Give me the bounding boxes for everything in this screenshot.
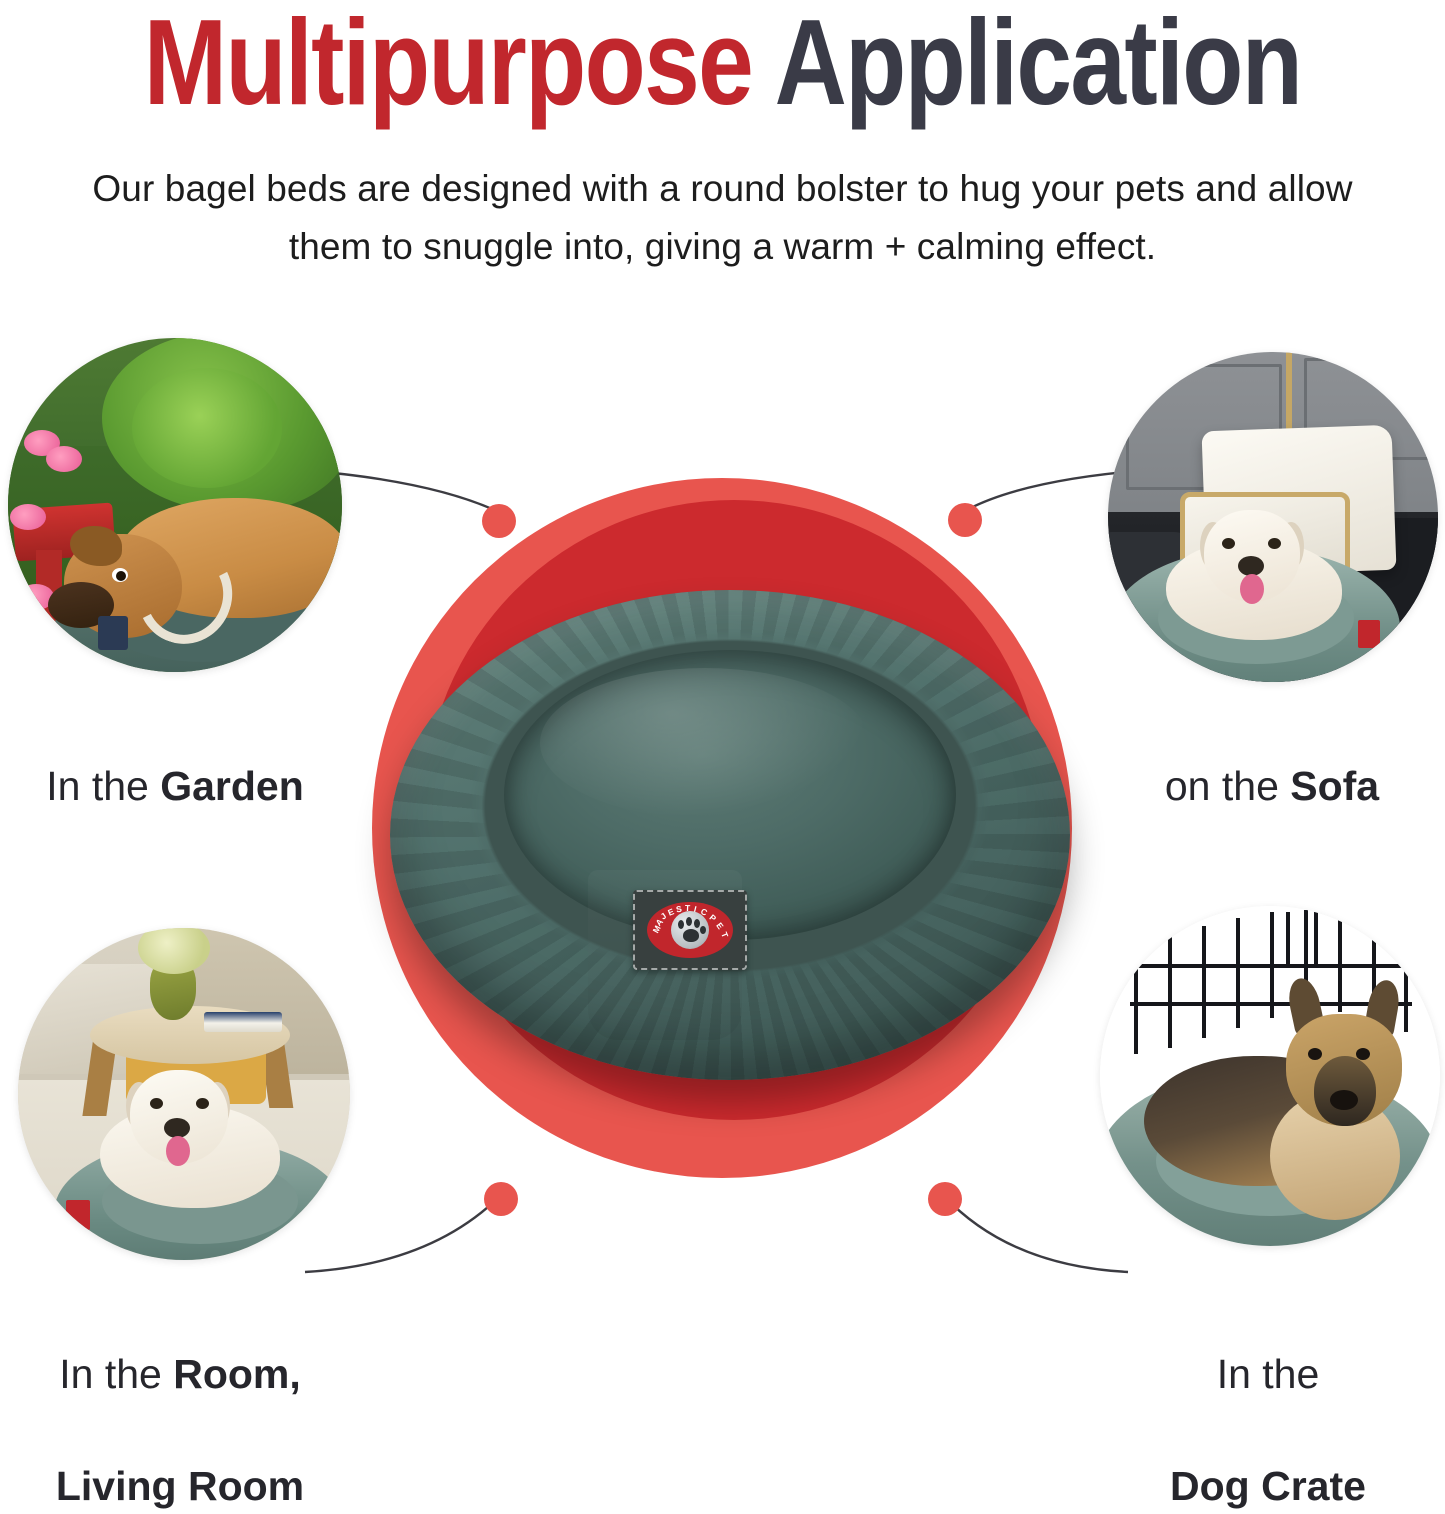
living-room-scene [18,928,350,1260]
infographic-canvas: Multipurpose Application Our bagel beds … [0,0,1445,1416]
title-part-multipurpose: Multipurpose [144,0,752,130]
garden-scene [8,338,342,672]
photo-garden [8,338,342,672]
dog-crate-scene [1100,906,1440,1246]
caption-living-room: In the Room, Living Room [0,1290,360,1514]
brand-tag-oval: M A J E S T I C P E T [647,902,733,958]
page-title: Multipurpose Application [130,0,1315,128]
caption-crate-prefix: In the [1217,1351,1320,1397]
title-part-application: Application [775,0,1302,130]
caption-living-line2: Living Room [56,1463,304,1509]
photo-living-room [18,928,350,1260]
brand-tag: M A J E S T I C P E T [633,890,747,970]
caption-crate-emphasis: Dog Crate [1170,1463,1366,1509]
paw-print-icon [671,911,709,949]
caption-garden: In the Garden [0,702,350,814]
product-dog-bed: M A J E S T I C P E T [390,590,1070,1110]
photo-sofa [1108,352,1438,682]
page-subtitle: Our bagel beds are designed with a round… [83,160,1363,276]
caption-living-prefix: In the [59,1351,173,1397]
caption-dog-crate: In the Dog Crate [1090,1290,1445,1514]
caption-garden-prefix: In the [46,763,160,809]
photo-dog-crate [1100,906,1440,1246]
connector-dot-sofa [948,503,982,537]
connector-dot-garden [482,504,516,538]
bed-cushion-highlight [540,668,870,818]
caption-sofa: on the Sofa [1098,702,1445,814]
connector-dot-living-room [484,1182,518,1216]
caption-living-emphasis: Room, [173,1351,301,1397]
sofa-scene [1108,352,1438,682]
connector-dot-dog-crate [928,1182,962,1216]
caption-sofa-prefix: on the [1165,763,1290,809]
caption-garden-emphasis: Garden [160,763,304,809]
caption-sofa-emphasis: Sofa [1290,763,1379,809]
